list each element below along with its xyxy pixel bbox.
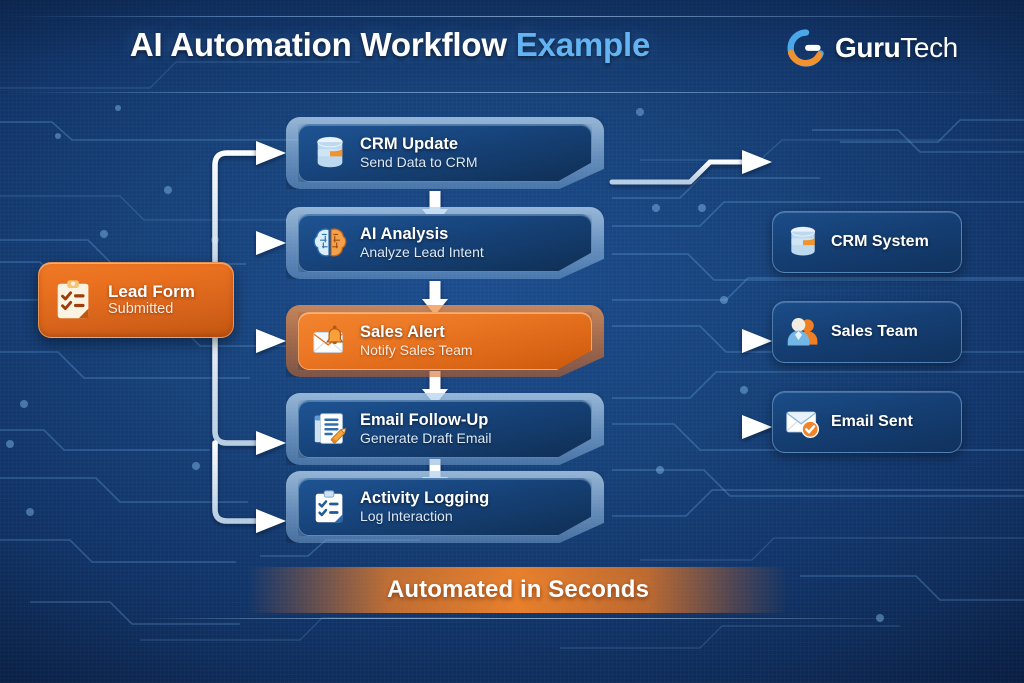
gurutech-g-logo-icon (786, 28, 826, 68)
step-text: Activity Logging Log Interaction (360, 489, 489, 525)
step-subtitle: Generate Draft Email (360, 430, 492, 447)
users-group-icon (785, 314, 821, 350)
page-title-main: AI Automation Workflow (130, 26, 507, 63)
brain-icon (311, 224, 349, 262)
step-text: Email Follow-Up Generate Draft Email (360, 411, 492, 447)
clipboard-checklist-icon (311, 488, 349, 526)
page-title: AI Automation Workflow Example (0, 26, 780, 64)
step-panel: AI Analysis Analyze Lead Intent (298, 214, 592, 272)
step-title: Activity Logging (360, 489, 489, 508)
outcome-node-title: Sales Team (831, 323, 918, 341)
workflow-step-ai-analysis[interactable]: AI Analysis Analyze Lead Intent (286, 207, 604, 279)
outcome-node-title: CRM System (831, 233, 929, 251)
step-text: CRM Update Send Data to CRM (360, 135, 478, 171)
trigger-node-title: Lead Form (108, 282, 195, 302)
step-title: CRM Update (360, 135, 478, 154)
footer-divider (140, 618, 900, 619)
workflow-step-crm-update[interactable]: CRM Update Send Data to CRM (286, 117, 604, 189)
document-pencil-icon (311, 410, 349, 448)
envelope-check-icon (785, 404, 821, 440)
database-icon (785, 224, 821, 260)
outcome-node-email-sent[interactable]: Email Sent (772, 391, 962, 453)
header-divider-bottom (0, 92, 1024, 93)
brand-logo: GuruTech (786, 28, 958, 68)
step-subtitle: Notify Sales Team (360, 342, 473, 359)
step-panel: Email Follow-Up Generate Draft Email (298, 400, 592, 458)
trigger-node-subtitle: Submitted (108, 301, 195, 318)
header-divider-top (0, 16, 1024, 17)
step-subtitle: Analyze Lead Intent (360, 244, 484, 261)
step-subtitle: Log Interaction (360, 508, 489, 525)
envelope-bell-icon (311, 322, 349, 360)
page-title-accent: Example (516, 26, 650, 63)
step-panel: CRM Update Send Data to CRM (298, 124, 592, 182)
trigger-node-lead-form[interactable]: Lead Form Submitted (38, 262, 234, 338)
step-text: Sales Alert Notify Sales Team (360, 323, 473, 359)
outcome-node-sales-team[interactable]: Sales Team (772, 301, 962, 363)
step-panel: Sales Alert Notify Sales Team (298, 312, 592, 370)
outcome-node-title: Email Sent (831, 413, 913, 431)
trigger-node-text: Lead Form Submitted (108, 282, 195, 319)
step-title: Sales Alert (360, 323, 473, 342)
workflow-step-email-follow-up[interactable]: Email Follow-Up Generate Draft Email (286, 393, 604, 465)
step-text: AI Analysis Analyze Lead Intent (360, 225, 484, 261)
step-panel: Activity Logging Log Interaction (298, 478, 592, 536)
workflow-step-sales-alert[interactable]: Sales Alert Notify Sales Team (286, 305, 604, 377)
workflow-step-activity-logging[interactable]: Activity Logging Log Interaction (286, 471, 604, 543)
clipboard-checklist-icon (51, 277, 97, 323)
brand-logo-light: Tech (900, 32, 958, 63)
header: AI Automation Workflow Example GuruTech (0, 0, 1024, 100)
footer-banner-label: Automated in Seconds (387, 576, 649, 604)
brand-logo-bold: Guru (835, 32, 900, 63)
database-icon (311, 134, 349, 172)
diagram-canvas: AI Automation Workflow Example GuruTech (0, 0, 1024, 683)
footer-banner: Automated in Seconds (248, 567, 788, 613)
brand-logo-text: GuruTech (835, 32, 958, 64)
step-subtitle: Send Data to CRM (360, 154, 478, 171)
step-title: Email Follow-Up (360, 411, 492, 430)
step-title: AI Analysis (360, 225, 484, 244)
outcome-node-crm-system[interactable]: CRM System (772, 211, 962, 273)
